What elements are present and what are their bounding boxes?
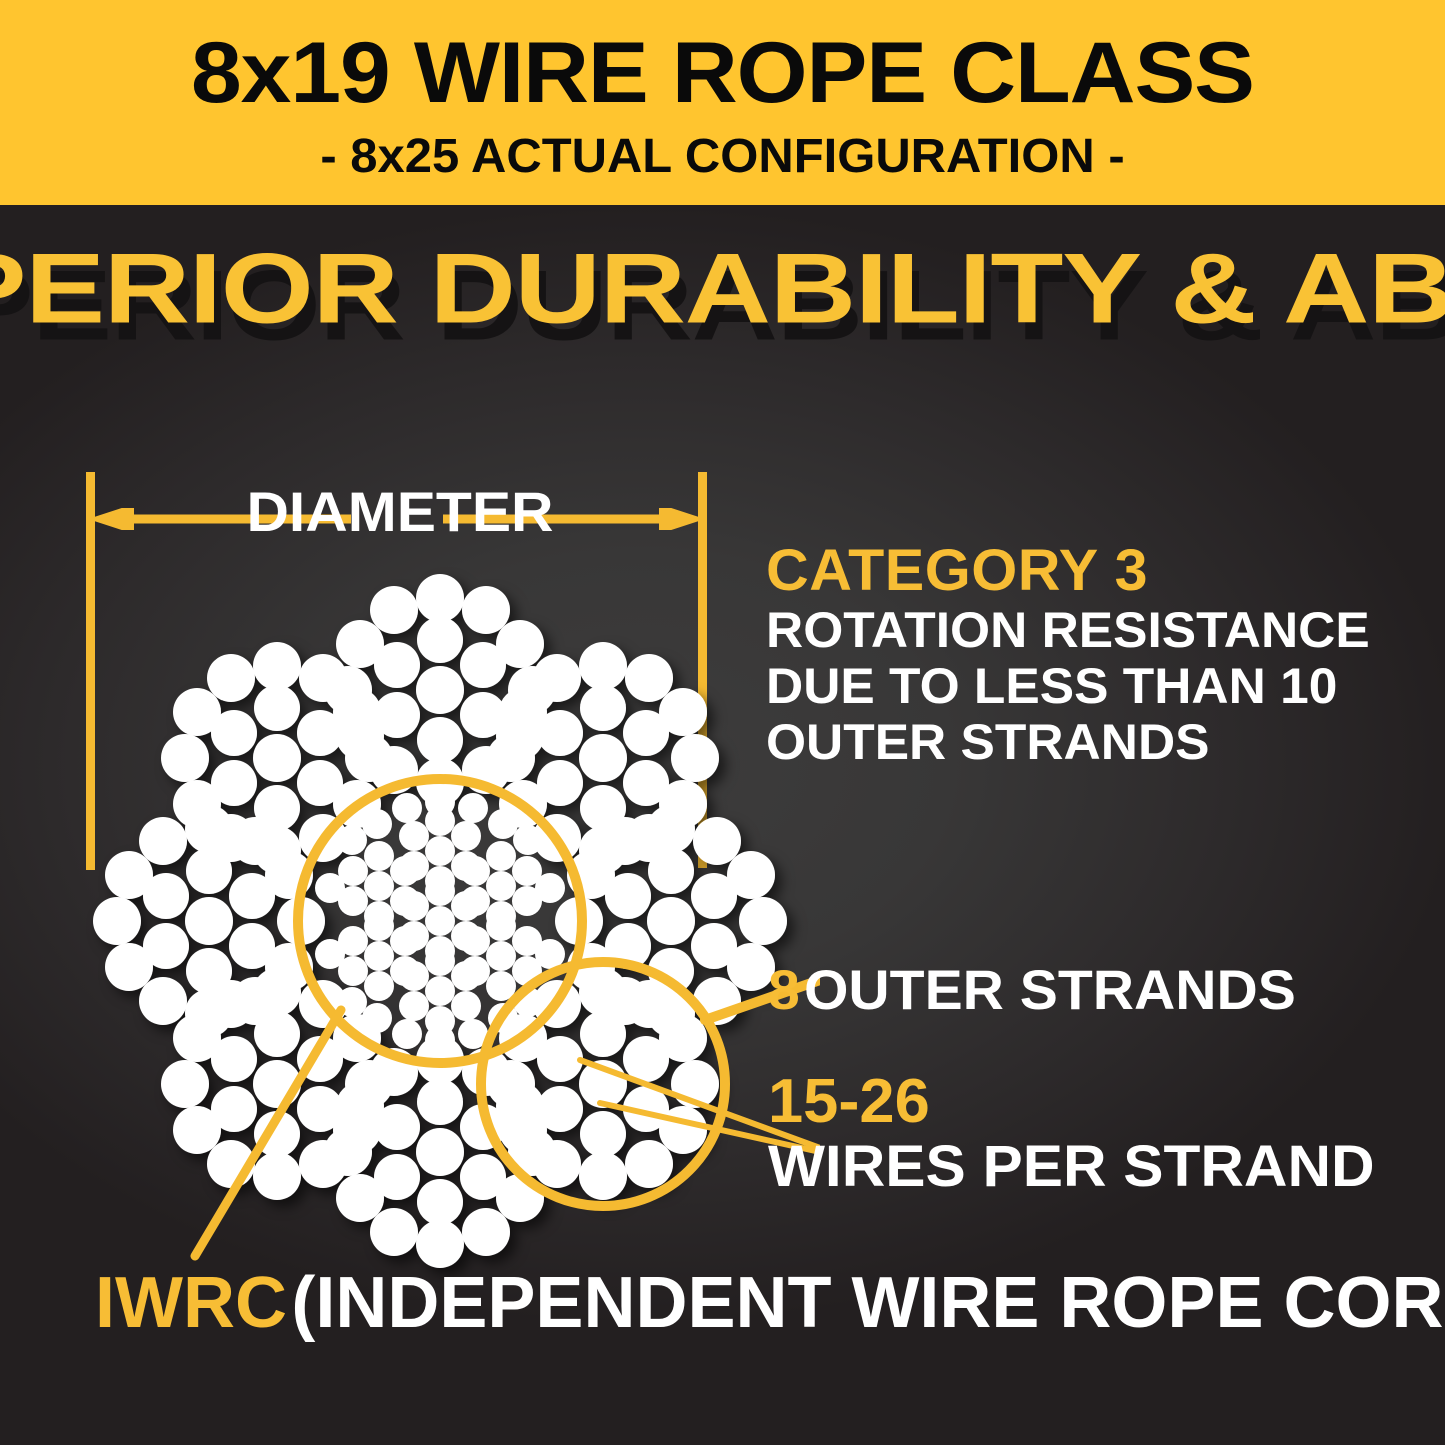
wire-rope-cross-section-diagram: [60, 540, 820, 1300]
outer-strands-callout: 8 OUTER STRANDS: [768, 960, 1286, 1020]
category-line-2: DUE TO LESS THAN 10: [766, 658, 1445, 714]
tagline-group: SUPERIOR DURABILITY & ABRASION-RESISTANC…: [0, 243, 1445, 363]
page-title: 8x19 WIRE ROPE CLASS: [0, 30, 1445, 116]
diameter-label: DIAMETER: [222, 484, 579, 540]
category-info-block: CATEGORY 3 ROTATION RESISTANCE DUE TO LE…: [766, 540, 1426, 770]
iwrc-callout: IWRC (INDEPENDENT WIRE ROPE CORE): [95, 1265, 1445, 1341]
header-banner: 8x19 WIRE ROPE CLASS - 8x25 ACTUAL CONFI…: [0, 0, 1445, 205]
page-subtitle: - 8x25 ACTUAL CONFIGURATION -: [0, 133, 1445, 181]
wires-count: 15-26: [768, 1070, 1363, 1134]
outer-strands-count: 8: [768, 960, 800, 1020]
iwrc-abbreviation: IWRC: [95, 1265, 287, 1341]
iwrc-full-name: (INDEPENDENT WIRE ROPE CORE): [291, 1265, 1445, 1341]
wires-per-strand-callout: 15-26 WIRES PER STRAND: [768, 1070, 1351, 1198]
category-title: CATEGORY 3: [766, 540, 1439, 602]
category-line-3: OUTER STRANDS: [766, 714, 1445, 770]
outer-strands-label: OUTER STRANDS: [804, 960, 1296, 1020]
infographic-canvas: 8x19 WIRE ROPE CLASS - 8x25 ACTUAL CONFI…: [0, 0, 1445, 1445]
iwrc-core-group: [315, 787, 565, 1055]
tagline: SUPERIOR DURABILITY & ABRASION-RESISTANC…: [0, 239, 1445, 338]
category-line-1: ROTATION RESISTANCE: [766, 602, 1445, 658]
wires-label: WIRES PER STRAND: [768, 1136, 1375, 1198]
